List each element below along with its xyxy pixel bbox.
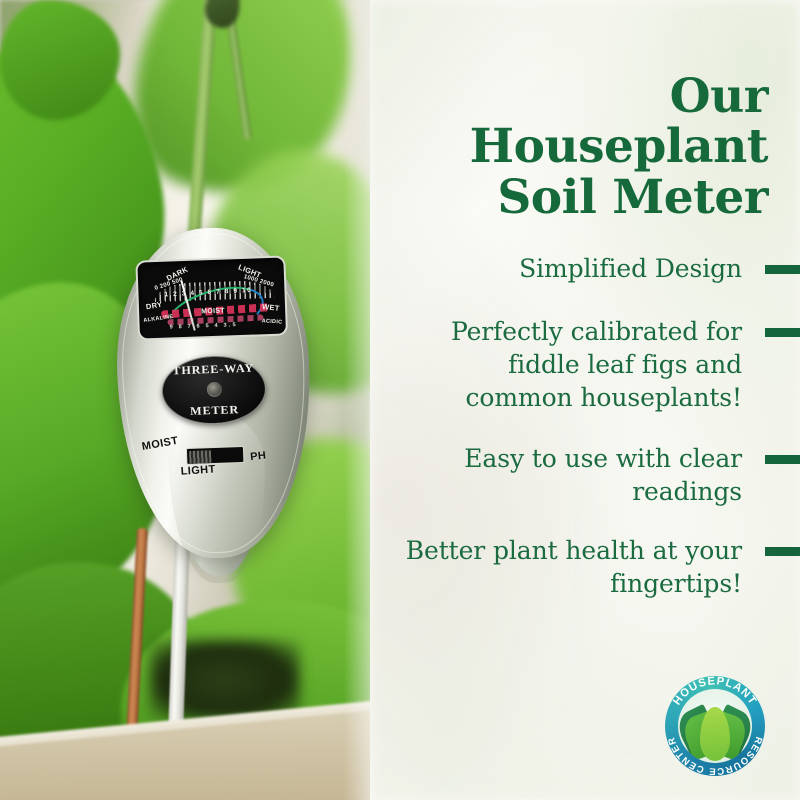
feature-text: Perfectly calibrated for fiddle leaf fig…: [370, 315, 800, 414]
feature-item: Perfectly calibrated for fiddle leaf fig…: [370, 315, 800, 414]
logo-text-arcs: HOUSEPLANT RESOURCE CENTER: [665, 676, 765, 776]
mode-selector-switch[interactable]: MOIST PH LIGHT: [141, 431, 293, 482]
headline-line-3: Soil Meter: [396, 173, 768, 223]
switch-label-ph: PH: [250, 450, 267, 464]
feature-text: Easy to use with clear readings: [370, 442, 800, 508]
logo-top-arc-label: HOUSEPLANT: [671, 676, 759, 707]
feature-accent-bar: [765, 328, 800, 337]
feature-item: Easy to use with clear readings: [370, 442, 800, 508]
poster-canvas: DARK LIGHT 0 200 500 1000 2000 1 2 3 4 5…: [0, 0, 800, 800]
dial-label-acidic: ACIDIC: [262, 319, 283, 326]
switch-label-light: LIGHT: [180, 463, 216, 477]
headline-line-2: Houseplant: [396, 122, 768, 172]
feature-accent-bar: [765, 265, 800, 274]
brand-logo: HOUSEPLANT RESOURCE CENTER: [665, 676, 765, 776]
switch-track[interactable]: [186, 446, 245, 465]
feature-item: Simplified Design: [370, 252, 800, 285]
product-photo: DARK LIGHT 0 200 500 1000 2000 1 2 3 4 5…: [0, 0, 370, 800]
badge-center-screw: [206, 382, 222, 398]
three-way-meter-badge: THREE-WAY METER: [161, 354, 267, 426]
switch-knob[interactable]: [189, 450, 211, 464]
logo-top-arc-text: HOUSEPLANT: [671, 676, 759, 707]
feature-item: Better plant health at your fingertips!: [370, 534, 800, 600]
feature-accent-bar: [765, 455, 800, 464]
dial-label-moist: MOIST: [201, 308, 225, 316]
soil-meter-device: DARK LIGHT 0 200 500 1000 2000 1 2 3 4 5…: [112, 225, 315, 561]
logo-bottom-arc-label: RESOURCE CENTER: [666, 735, 764, 776]
feature-text: Simplified Design: [370, 252, 800, 285]
content-panel: Our Houseplant Soil Meter Simplified Des…: [370, 0, 800, 800]
headline-line-1: Our: [396, 72, 768, 122]
dial-label-wet: WET: [262, 303, 280, 312]
dial-label-dry: DRY: [145, 301, 163, 311]
feature-accent-bar: [765, 547, 800, 556]
photo-edge-blend: [344, 0, 370, 800]
feature-text: Better plant health at your fingertips!: [370, 534, 800, 600]
meter-dial-window: DARK LIGHT 0 200 500 1000 2000 1 2 3 4 5…: [135, 255, 288, 340]
meter-dial-face: DARK LIGHT 0 200 500 1000 2000 1 2 3 4 5…: [137, 257, 286, 338]
switch-label-moist: MOIST: [141, 435, 179, 453]
badge-top-label: THREE-WAY: [159, 362, 267, 378]
page-title: Our Houseplant Soil Meter: [396, 72, 768, 223]
feature-list: Simplified Design Perfectly calibrated f…: [370, 252, 800, 626]
logo-bottom-arc-text: RESOURCE CENTER: [666, 735, 764, 776]
